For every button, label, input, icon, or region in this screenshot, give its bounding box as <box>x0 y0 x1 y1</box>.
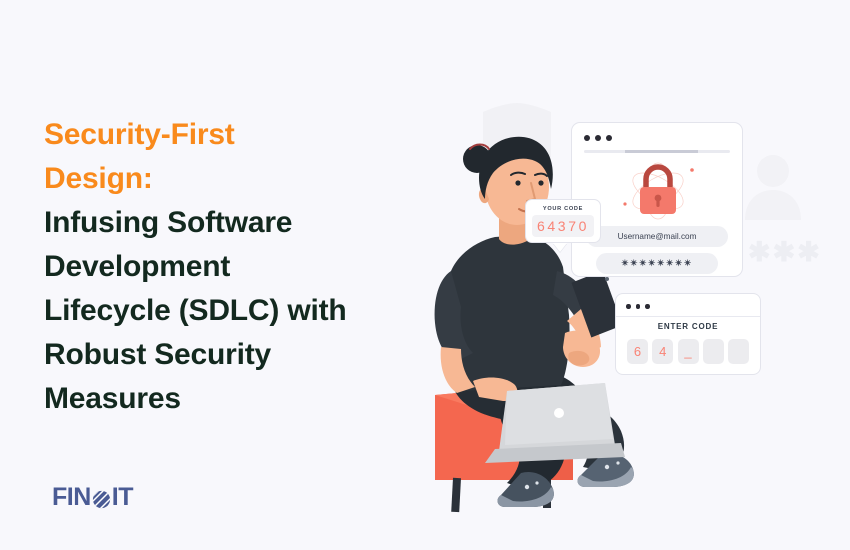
window-dot <box>595 135 601 141</box>
code-tooltip: YOUR CODE 64370 <box>525 199 601 243</box>
otp-input-group[interactable]: 6 4 _ <box>627 339 749 364</box>
shoe-back <box>578 454 634 487</box>
window-divider <box>616 316 760 317</box>
username-field[interactable]: Username@mail.com <box>586 226 728 247</box>
headline-body-line-2: Development <box>44 245 424 289</box>
password-field[interactable]: ✴✴✴✴✴✴✴✴ <box>596 253 718 274</box>
logo-globe-icon <box>92 489 111 508</box>
code-tooltip-label: YOUR CODE <box>526 206 600 212</box>
window-dots <box>626 304 650 309</box>
padlock-icon <box>613 160 703 222</box>
enter-code-window[interactable]: ENTER CODE 6 4 _ <box>615 293 761 375</box>
code-tooltip-value: 64370 <box>532 215 594 237</box>
asterisks-decoration: ✱✱✱ <box>748 239 822 266</box>
page-title: Security-First Design: Infusing Software… <box>44 113 424 421</box>
window-dot <box>636 304 641 309</box>
headline-body-line-1: Infusing Software <box>44 201 424 245</box>
logo-text-after: IT <box>112 485 133 510</box>
user-silhouette-icon <box>745 155 801 220</box>
otp-digit-5[interactable] <box>728 339 749 364</box>
window-dots <box>584 135 612 141</box>
logo-text-before: FIN <box>52 485 91 510</box>
headline-accent-line-2: Design: <box>44 157 424 201</box>
window-dot <box>584 135 590 141</box>
window-dot <box>626 304 631 309</box>
code-tooltip-tail <box>553 243 567 252</box>
window-dot <box>606 135 612 141</box>
window-address-bar <box>584 150 730 153</box>
headline-body-line-4: Robust Security <box>44 333 424 377</box>
otp-digit-1[interactable]: 6 <box>627 339 648 364</box>
headline-body-line-5: Measures <box>44 377 424 421</box>
enter-code-title: ENTER CODE <box>616 322 760 331</box>
otp-digit-4[interactable] <box>703 339 724 364</box>
hero-illustration: Username@mail.com ✴✴✴✴✴✴✴✴ YOUR CODE 643… <box>415 95 845 515</box>
headline-accent-line-1: Security-First <box>44 113 424 157</box>
otp-digit-2[interactable]: 4 <box>652 339 673 364</box>
banner-root: Security-First Design: Infusing Software… <box>0 0 850 550</box>
otp-digit-3[interactable]: _ <box>678 339 699 364</box>
headline-body-line-3: Lifecycle (SDLC) with <box>44 289 424 333</box>
person-shirt <box>446 235 570 391</box>
logo[interactable]: FIN IT <box>52 482 133 512</box>
window-dot <box>645 304 650 309</box>
logo-text: FIN IT <box>52 485 133 510</box>
